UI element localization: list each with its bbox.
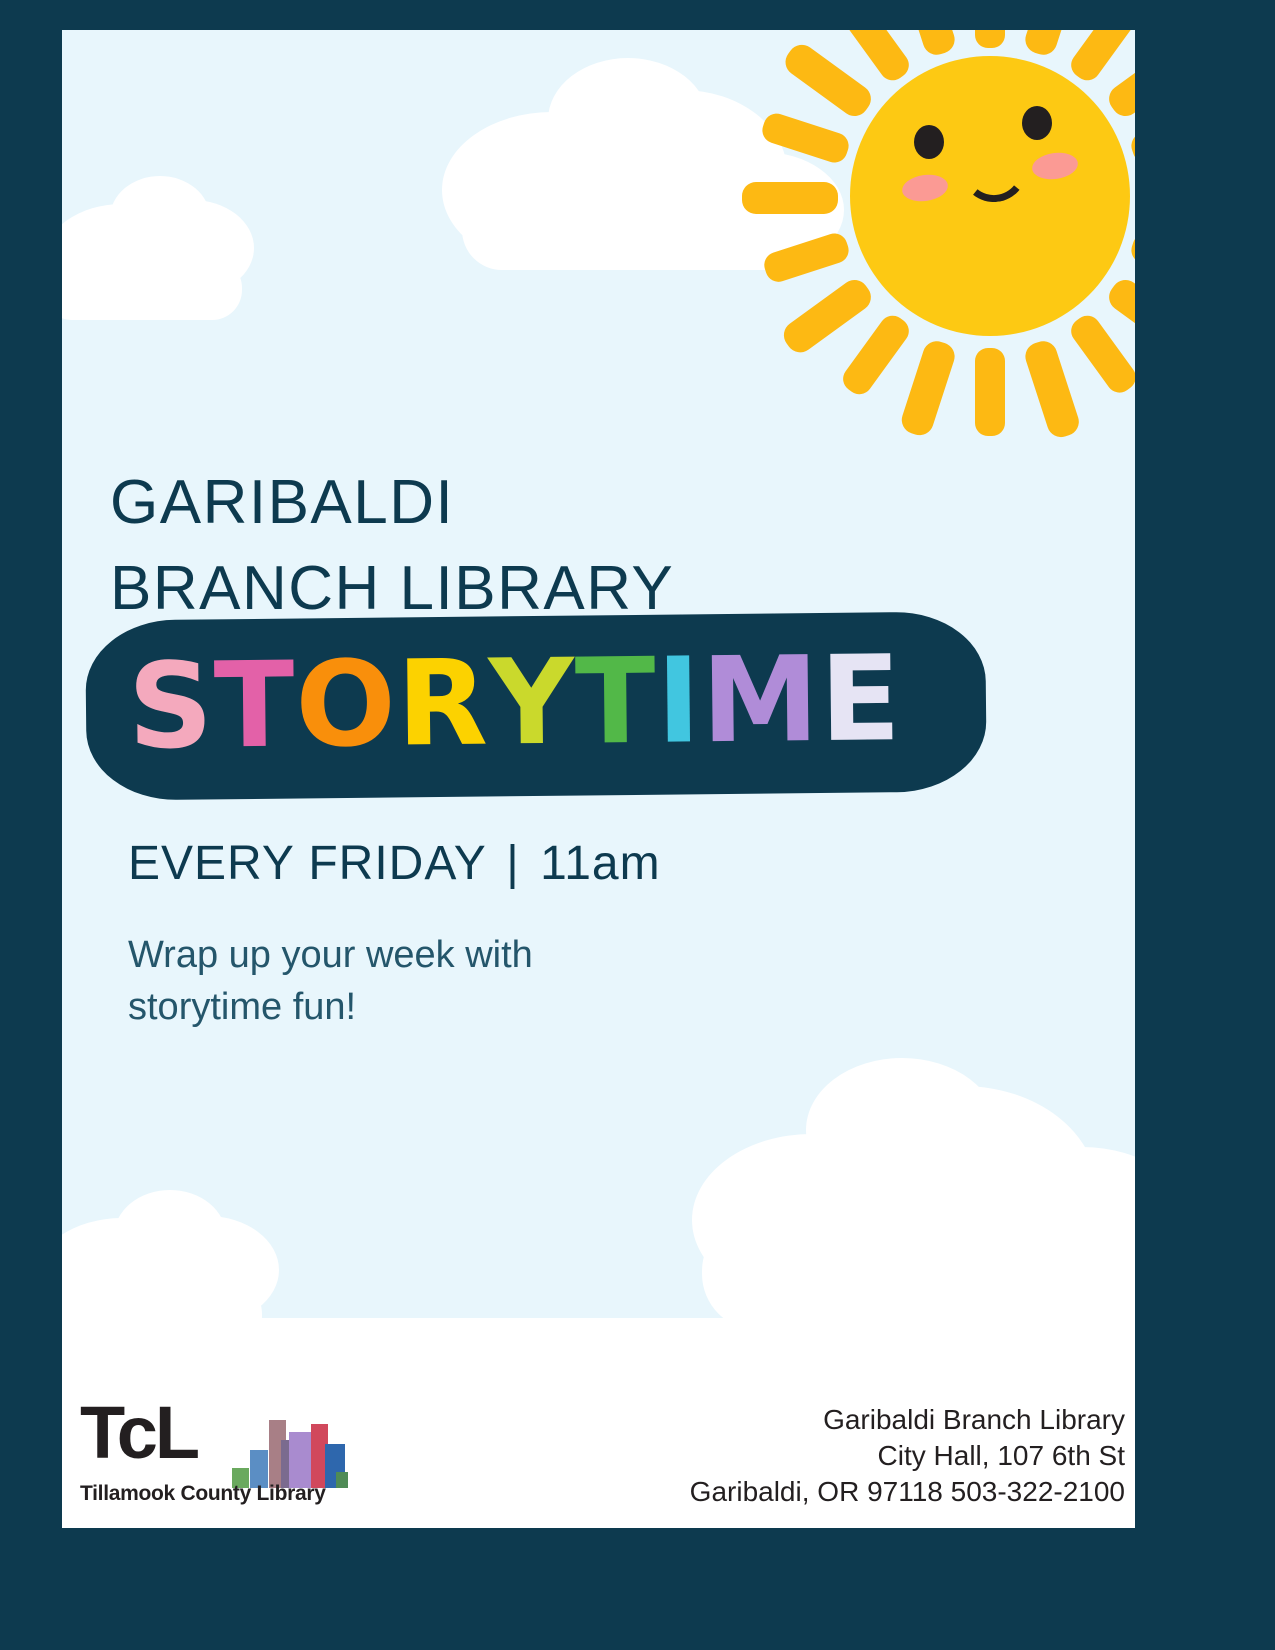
poster-page: GARIBALDI BRANCH LIBRARY STORYTIME EVERY… xyxy=(0,0,1275,1650)
event-description: Wrap up your week with storytime fun! xyxy=(128,930,533,1033)
storytime-letter-4: R xyxy=(396,632,489,775)
sun-cheek-left-icon xyxy=(900,172,949,204)
logo-name-text: Tillamook County Library xyxy=(80,1482,326,1506)
event-time: 11am xyxy=(540,837,661,890)
storytime-letter-5: Y xyxy=(488,632,576,774)
poster-footer: TcL Tillamook County Library Garibaldi B… xyxy=(62,1318,1135,1528)
sun-rays-icon xyxy=(702,30,1135,470)
logo-mark-text: TcL xyxy=(80,1398,197,1468)
logo-books-icon xyxy=(232,1412,348,1488)
contact-block: Garibaldi Branch Library City Hall, 107 … xyxy=(690,1402,1125,1509)
heading-line-1: GARIBALDI xyxy=(110,460,930,546)
cloud-top-left xyxy=(62,140,312,330)
sun-eye-left-icon xyxy=(914,125,944,159)
storytime-banner: STORYTIME xyxy=(85,611,987,800)
event-separator: | xyxy=(500,837,525,890)
event-schedule: EVERY FRIDAY | 11am xyxy=(128,836,661,891)
contact-line-1: Garibaldi Branch Library xyxy=(690,1402,1125,1438)
storytime-letter-2: T xyxy=(213,635,296,777)
storytime-letter-6: T xyxy=(574,631,657,773)
storytime-wordmark: STORYTIME xyxy=(127,628,902,778)
contact-line-3: Garibaldi, OR 97118 503-322-2100 xyxy=(690,1474,1125,1510)
storytime-letter-3: O xyxy=(295,633,398,776)
sun-disc xyxy=(850,56,1130,336)
event-day: EVERY FRIDAY xyxy=(128,837,486,890)
cloud-bottom-right xyxy=(662,1010,1135,1318)
sky-art-panel: GARIBALDI BRANCH LIBRARY STORYTIME EVERY… xyxy=(62,30,1135,1318)
storytime-letter-1: S xyxy=(127,635,214,777)
description-line-2: storytime fun! xyxy=(128,982,533,1034)
contact-line-2: City Hall, 107 6th St xyxy=(690,1438,1125,1474)
storytime-letter-8: M xyxy=(701,629,821,772)
sun-eye-right-icon xyxy=(1022,106,1052,140)
storytime-letter-7: I xyxy=(656,630,702,772)
smiling-sun xyxy=(702,30,1135,470)
poster-sheet: GARIBALDI BRANCH LIBRARY STORYTIME EVERY… xyxy=(62,30,1135,1528)
cloud-bottom-left xyxy=(62,1150,322,1318)
storytime-letter-9: E xyxy=(819,628,902,770)
library-logo: TcL Tillamook County Library xyxy=(80,1398,350,1508)
page-title: GARIBALDI BRANCH LIBRARY xyxy=(110,460,930,631)
sun-cheek-right-icon xyxy=(1030,150,1079,182)
sun-smile-icon xyxy=(960,155,1030,206)
description-line-1: Wrap up your week with xyxy=(128,930,533,982)
cloud-top-center xyxy=(432,40,852,310)
